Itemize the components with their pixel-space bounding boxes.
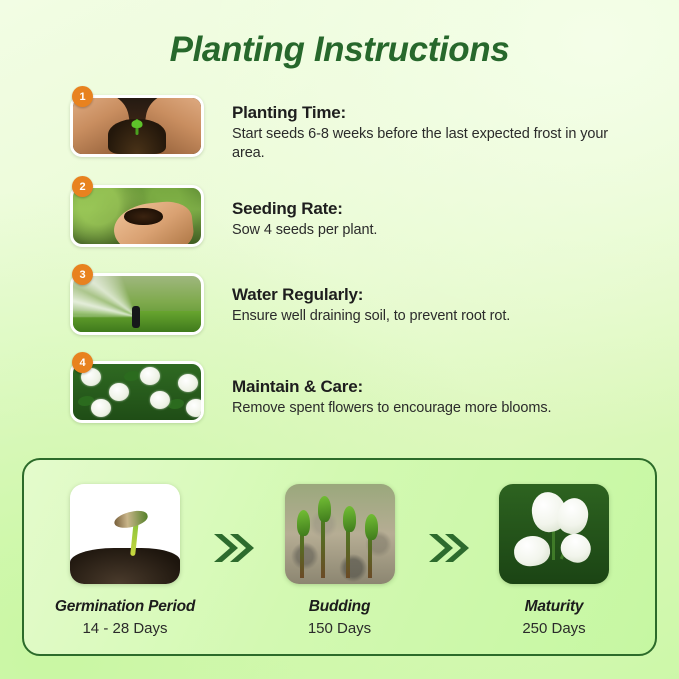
step-body: Remove spent flowers to encourage more b… xyxy=(232,399,630,418)
stage-duration: 14 - 28 Days xyxy=(50,620,200,637)
step-number-badge: 2 xyxy=(72,176,93,197)
step-heading: Water Regularly: xyxy=(232,285,630,305)
stage-duration: 250 Days xyxy=(479,620,629,637)
hand-holding-seeds-image xyxy=(73,188,201,244)
step-heading: Planting Time: xyxy=(232,103,630,123)
step-body: Sow 4 seeds per plant. xyxy=(232,221,630,240)
step-thumbnail: 3 xyxy=(70,273,204,335)
poster-root: Planting Instructions 1 Planting Time: S… xyxy=(0,0,679,679)
double-chevron-right-icon xyxy=(210,528,254,568)
step-text: Planting Time: Start seeds 6-8 weeks bef… xyxy=(232,103,630,163)
double-chevron-right-icon xyxy=(425,528,469,568)
step-text: Water Regularly: Ensure well draining so… xyxy=(232,285,630,326)
growth-timeline-card: Germination Period 14 - 28 Days xyxy=(22,458,657,656)
timeline-stage: Budding 150 Days xyxy=(265,484,415,637)
instruction-step: 1 Planting Time: Start seeds 6-8 weeks b… xyxy=(70,93,630,183)
sprinkler-watering-grass-image xyxy=(73,276,201,332)
page-title: Planting Instructions xyxy=(0,30,679,70)
timeline-stage: Maturity 250 Days xyxy=(479,484,629,637)
step-heading: Maintain & Care: xyxy=(232,377,630,397)
instruction-steps-list: 1 Planting Time: Start seeds 6-8 weeks b… xyxy=(70,93,630,447)
step-thumbnail: 4 xyxy=(70,361,204,423)
step-text: Seeding Rate: Sow 4 seeds per plant. xyxy=(232,199,630,240)
step-number-badge: 4 xyxy=(72,352,93,373)
step-thumbnail: 2 xyxy=(70,185,204,247)
step-number-badge: 3 xyxy=(72,264,93,285)
step-text: Maintain & Care: Remove spent flowers to… xyxy=(232,377,630,418)
step-number-badge: 1 xyxy=(72,86,93,107)
instruction-step: 4 Mainta xyxy=(70,359,630,447)
step-thumbnail: 1 xyxy=(70,95,204,157)
step-body: Start seeds 6-8 weeks before the last ex… xyxy=(232,125,630,163)
white-flowers-closeup-image xyxy=(73,364,201,420)
stage-name: Maturity xyxy=(479,598,629,616)
stage-duration: 150 Days xyxy=(265,620,415,637)
instruction-step: 3 Water Regularly: Ensure well draining … xyxy=(70,271,630,359)
white-bellflowers-in-bloom-image xyxy=(499,484,609,584)
instruction-step: 2 Seeding Rate: Sow 4 seeds per plant. xyxy=(70,183,630,271)
seedling-sprouting-in-soil-image xyxy=(70,484,180,584)
timeline-stage: Germination Period 14 - 28 Days xyxy=(50,484,200,637)
step-heading: Seeding Rate: xyxy=(232,199,630,219)
young-shoots-in-gravel-image xyxy=(285,484,395,584)
stage-name: Germination Period xyxy=(50,598,200,616)
step-body: Ensure well draining soil, to prevent ro… xyxy=(232,307,630,326)
stage-name: Budding xyxy=(265,598,415,616)
hands-holding-soil-with-sprout-image xyxy=(73,98,201,154)
